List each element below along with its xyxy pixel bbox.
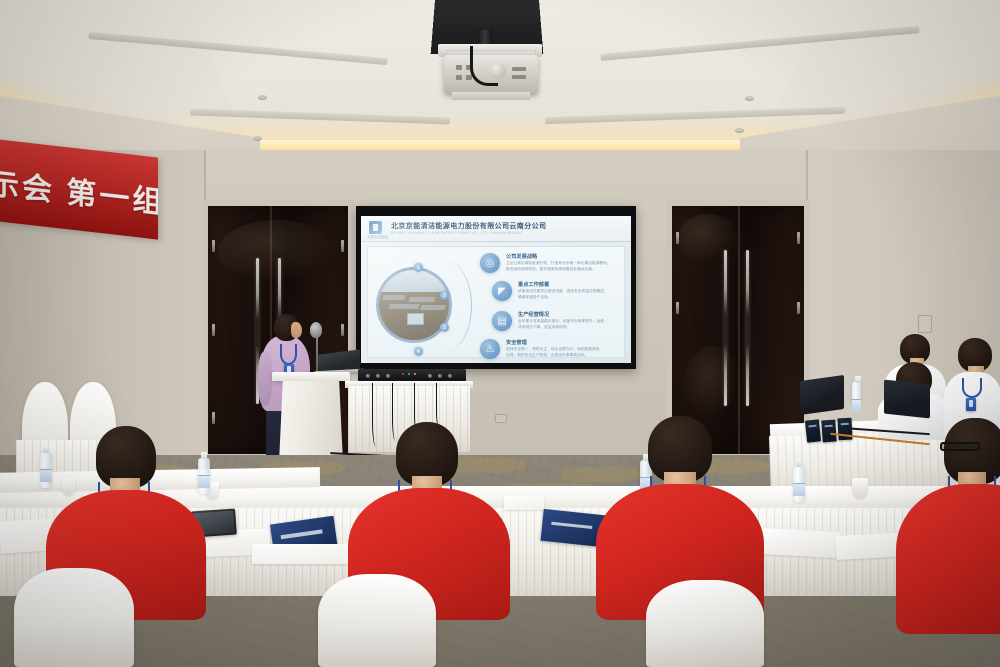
projector-base-plate [452,92,530,100]
logo-subtext: 京能清洁能源 [367,234,388,239]
company-logo-icon [369,221,382,234]
judge-lanyard [962,378,982,398]
status-led [402,373,404,375]
paper-cup[interactable] [62,478,75,495]
attendee-chair[interactable] [318,574,436,667]
smoke-detector-icon [253,136,262,141]
document-sheet[interactable] [252,544,348,564]
slide-title: 北京京能清洁能源电力股份有限公司云南分公司 [391,221,546,231]
bottle-label [852,399,861,412]
av-cable [436,383,444,429]
door-hinge [212,412,215,424]
megaphone-icon: ◤ [492,281,512,301]
door-reflection [678,214,738,262]
node-marker-3: 3 [440,323,449,332]
mixer-knob[interactable] [438,374,442,378]
node-marker-4: 4 [414,347,423,356]
attendee-chair[interactable] [14,568,134,667]
door-split-line [738,206,740,454]
item-line: 立足云南区域新能源开发，打造风光水储一体化清洁能源基地， [506,261,611,266]
item-line: 确保年度投产目标。 [518,295,552,300]
projector-button [456,75,462,80]
presenter-lanyard [280,344,297,365]
water-bottle[interactable] [793,466,805,502]
mixer-knob[interactable] [428,374,432,378]
attendee-shirt [896,484,1000,634]
item-line: 治理，筑牢安全生产防线，实现全年零事故目标。 [506,353,588,358]
projector-vent-slot [512,75,526,79]
bottle-label [40,469,52,482]
item-line: 全年累计发电量稳步增长，设备可利用率提升，运维 [518,319,604,324]
door-reflection [218,220,336,282]
mixer-knob[interactable] [366,374,370,378]
door-handle[interactable] [746,250,749,406]
item-line: 坚持安全第一、预防为主、综合治理方针，深化隐患排查 [506,347,599,352]
wall-outlet[interactable] [495,414,507,423]
wall-outlet[interactable] [918,315,932,333]
connector-line [420,261,472,351]
item-line: 成本同比下降，效益持续向好。 [518,325,570,330]
smoke-detector-icon [745,96,754,101]
projector-vent-slot [512,67,526,71]
presenter-arm [258,352,272,406]
slide-header: 京能清洁能源 北京京能清洁能源电力股份有限公司云南分公司 BEIJING JIN… [361,216,631,242]
target-icon: ◎ [480,253,500,273]
node-marker-2: 2 [440,291,449,300]
microphone-icon [310,322,322,338]
slide-title-en: BEIJING JINGNENG CLEAN ENERGY POWER CO.,… [391,231,522,235]
door-hinge [212,240,215,252]
conference-room-scene: 展示会 第一组 京能清洁能源 北京京能清洁能源电力股份 [0,0,1000,667]
item-heading: 生产经营情况 [518,311,549,318]
av-cable [392,383,400,441]
door-reflection [684,346,740,418]
node-marker-1: 1 [414,263,423,272]
document-sheet[interactable] [504,496,544,510]
door-hinge [676,302,679,314]
water-bottle[interactable] [198,458,210,494]
smoke-detector-icon [258,95,267,100]
presenter-face [291,322,302,338]
item-heading: 重点工作部署 [518,281,549,288]
document-sheet[interactable] [759,528,840,558]
door-hinge [797,232,800,244]
item-line: 统筹推进在建项目建设进度，强化安全质量过程管控， [518,289,608,294]
judge-laptop[interactable] [884,380,930,419]
attendee-chair[interactable] [646,580,764,667]
mixer-knob[interactable] [386,374,390,378]
status-led [414,373,416,375]
water-bottle[interactable] [40,452,52,488]
warning-icon: ⚠ [480,339,500,359]
judge-badge [966,398,976,411]
bottle-label [793,483,805,496]
table-name-card [805,419,821,442]
paper-cup[interactable] [852,478,868,498]
door-hinge [341,324,344,336]
slide-body: 1 2 3 4 ◎ 公司发展战略 立足云南区域新能源开发，打造风光水储一体化清洁… [367,246,625,358]
solar-panel-row [388,304,420,309]
water-bottle[interactable] [852,382,861,404]
podium [279,381,343,463]
projection-screen: 京能清洁能源 北京京能清洁能源电力股份有限公司云南分公司 BEIJING JIN… [356,206,636,369]
projector-button [456,65,462,70]
door-hinge [212,324,215,336]
glasses-icon [940,442,980,451]
door-hinge [797,302,800,314]
solar-panel-row [382,295,406,300]
item-line: 推进绿色低碳转型，服务国家双碳战略目标落地实施。 [506,267,596,272]
item-heading: 安全管理 [506,339,527,346]
podium-top [272,372,350,381]
av-cable [372,383,382,447]
mixer-knob[interactable] [376,374,380,378]
door-hinge [341,240,344,252]
bottle-label [198,475,210,488]
item-heading: 公司发展战略 [506,253,537,260]
chart-icon: ▤ [492,311,512,331]
table-name-card [821,420,837,443]
judge-laptop[interactable] [800,375,844,415]
door-right-pair[interactable] [672,206,804,454]
status-led [408,373,410,375]
projector-cable [470,46,498,86]
slide-surface: 京能清洁能源 北京京能清洁能源电力股份有限公司云南分公司 BEIJING JIN… [361,216,631,363]
smoke-detector-icon [735,128,744,133]
mixer-knob[interactable] [448,374,452,378]
